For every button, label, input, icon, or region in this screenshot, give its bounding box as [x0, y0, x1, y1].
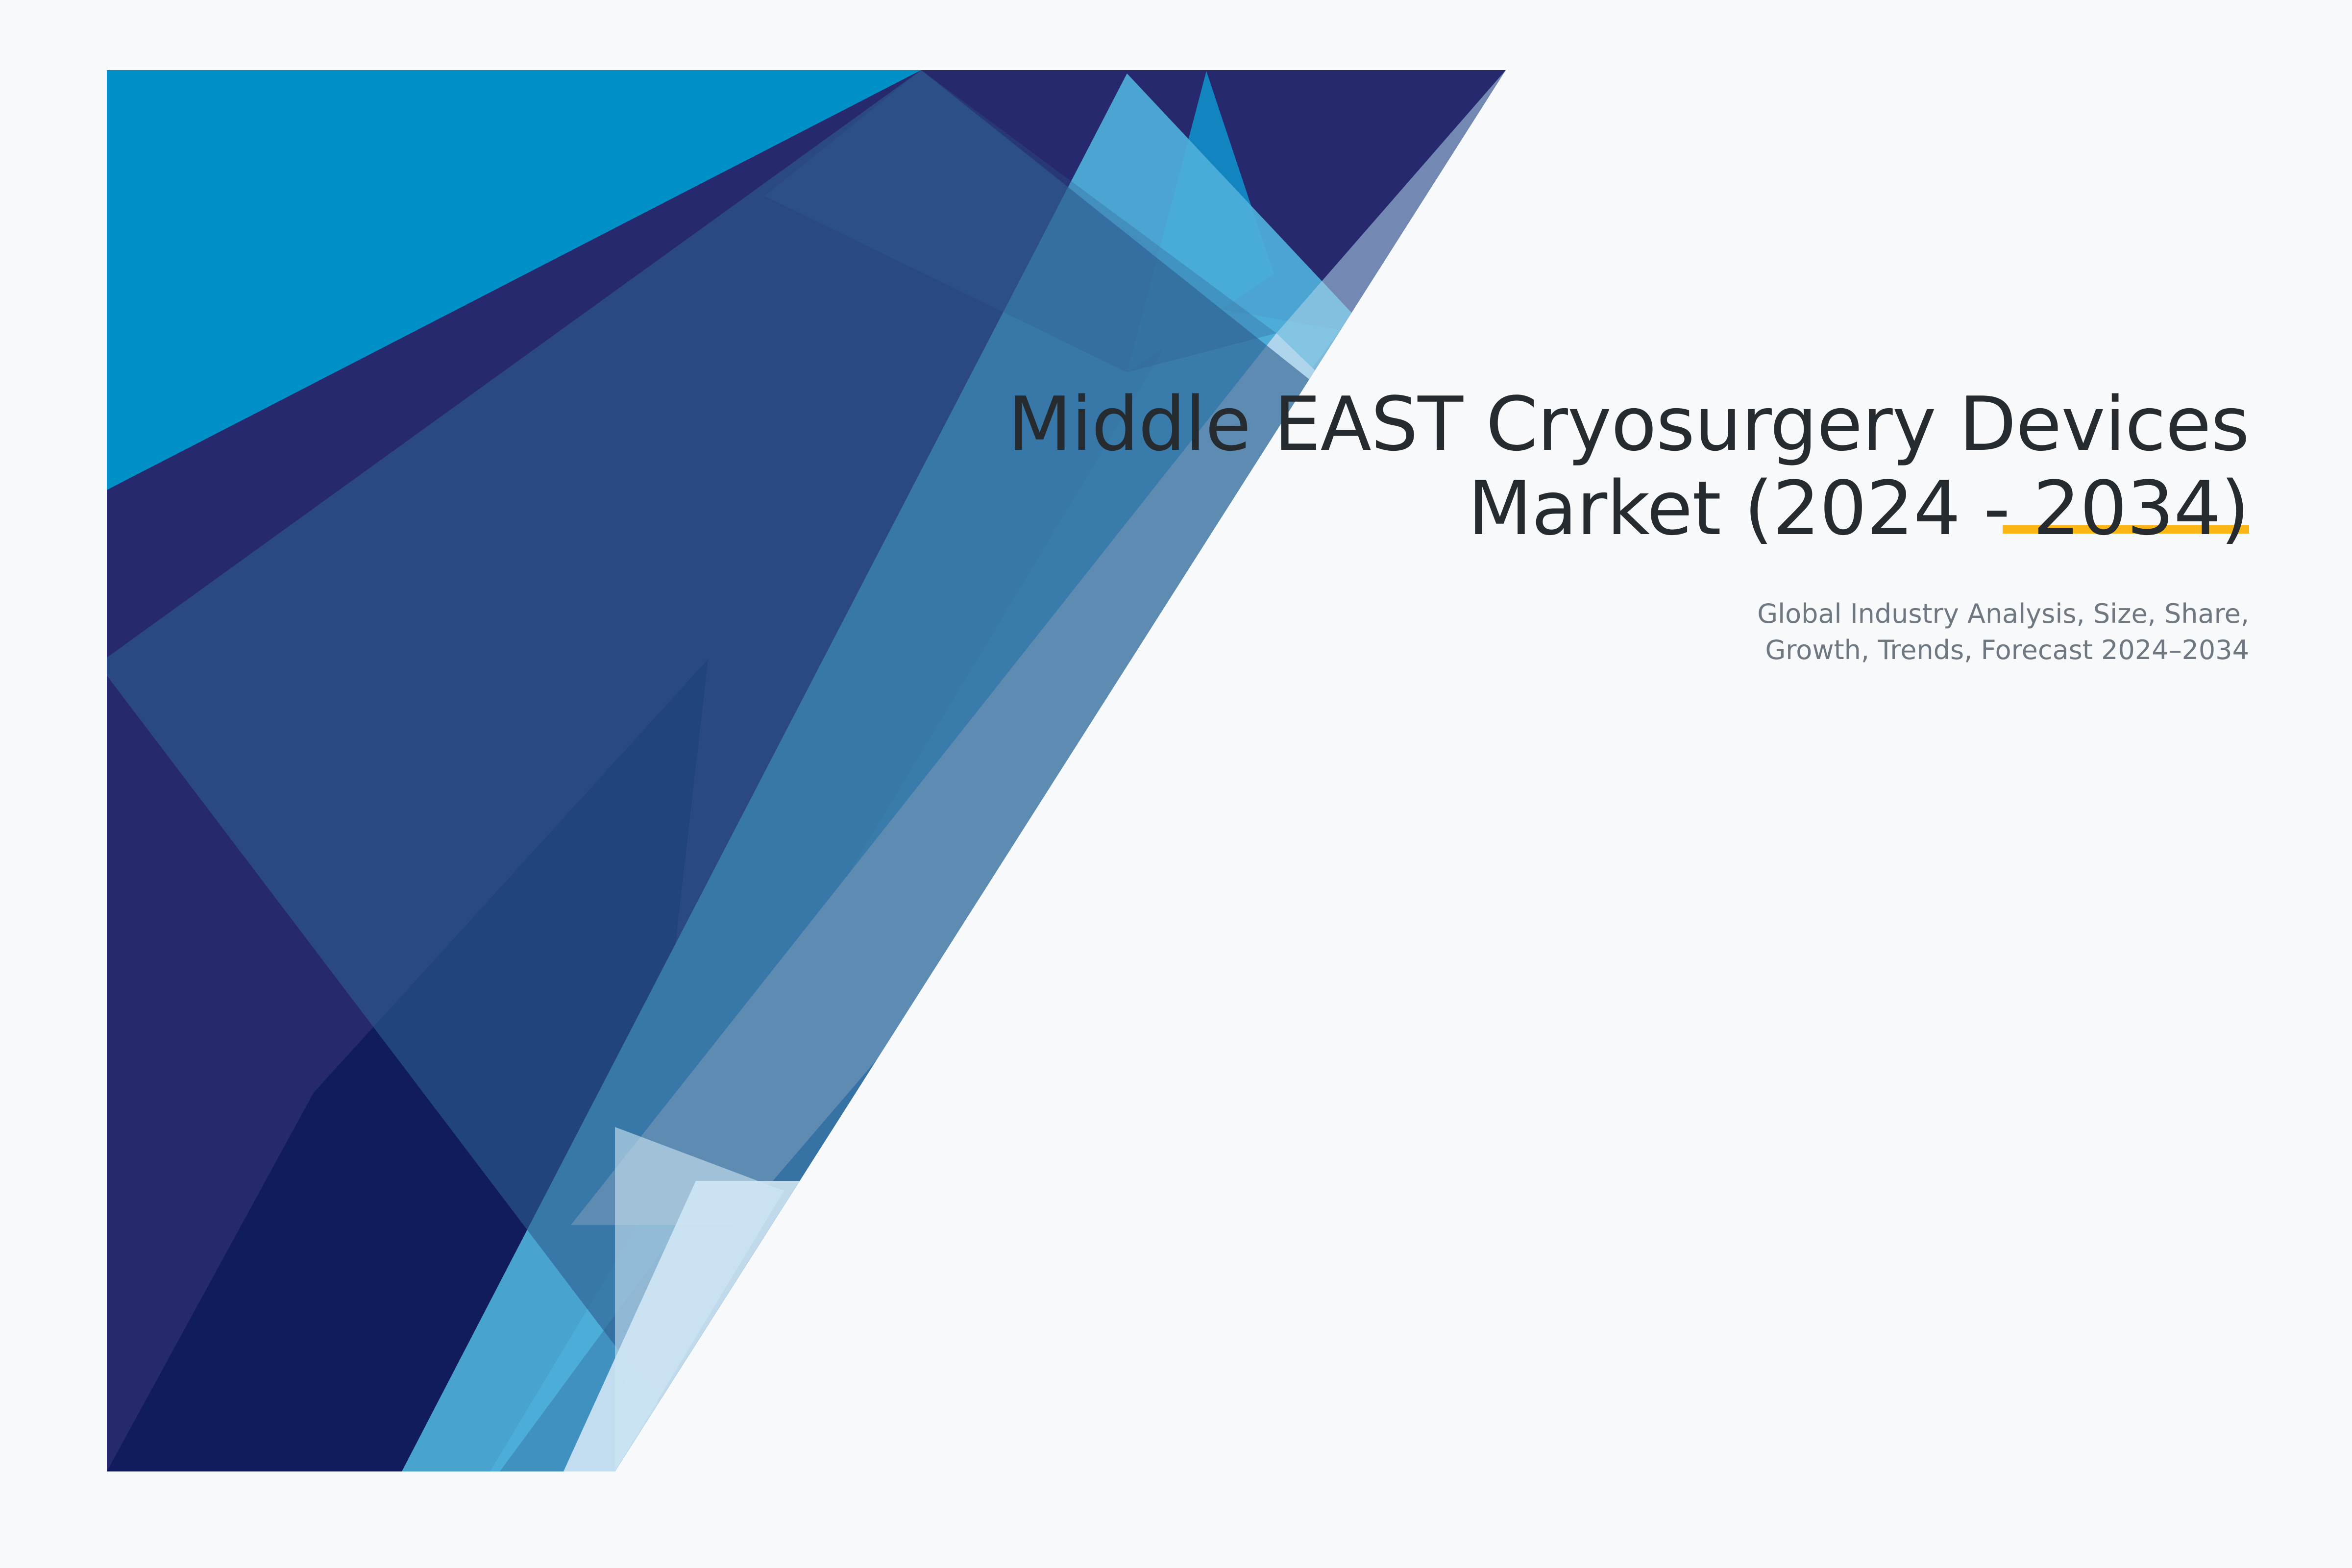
- page-title: Middle EAST Cryosurgery Devices Market (…: [931, 382, 2249, 551]
- title-wrapper: Middle EAST Cryosurgery Devices Market (…: [931, 382, 2249, 551]
- slide-canvas: Middle EAST Cryosurgery Devices Market (…: [0, 0, 2352, 1568]
- cover-text-block: Middle EAST Cryosurgery Devices Market (…: [931, 382, 2249, 669]
- abstract-polygon-cover-graphic: [0, 0, 2352, 1568]
- page-subtitle: Global Industry Analysis, Size, Share, G…: [931, 596, 2249, 669]
